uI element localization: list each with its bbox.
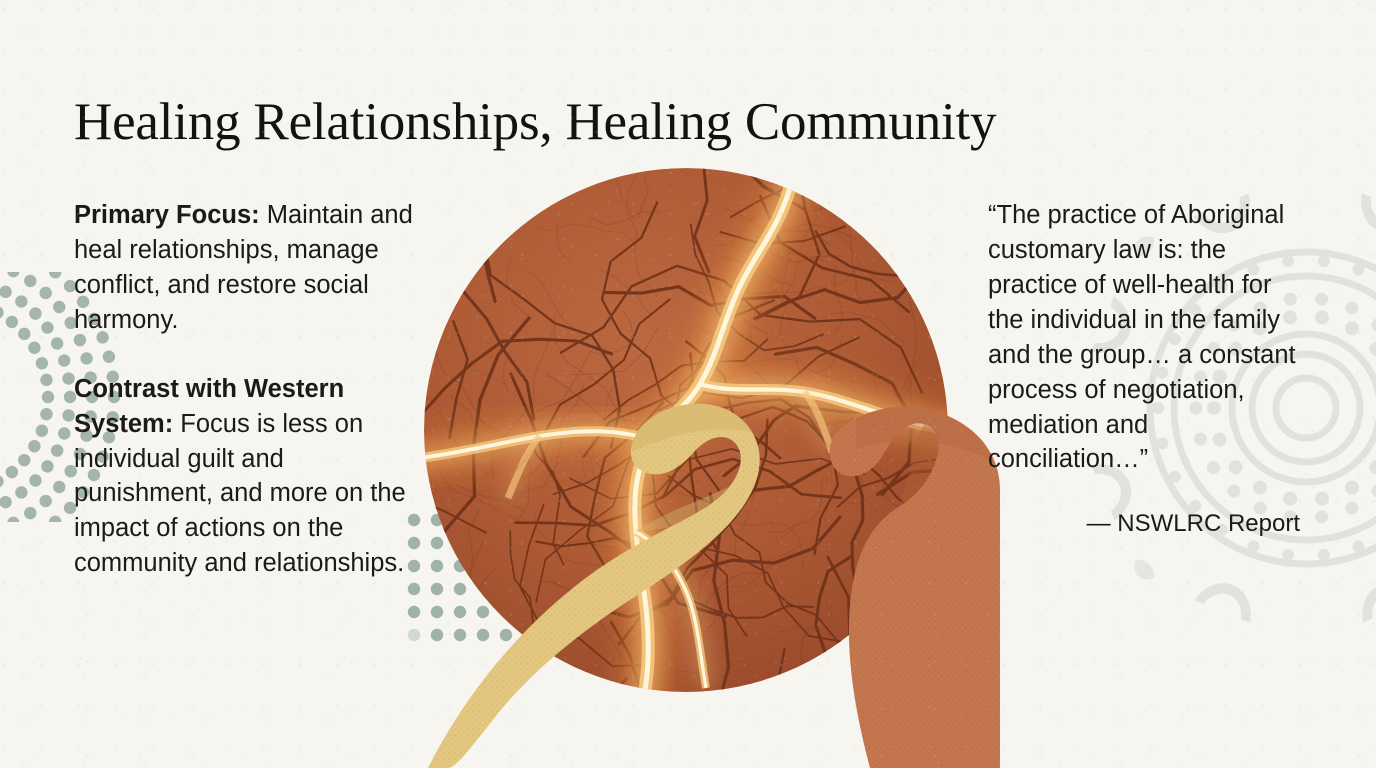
pull-quote: “The practice of Aboriginal customary la…	[988, 198, 1308, 477]
slide-canvas: Healing Relationships, Healing Community…	[0, 0, 1376, 768]
paragraph-primary-focus: Primary Focus: Maintain and heal relatio…	[74, 198, 419, 338]
paragraph-contrast-western-system: Contrast with Western System: Focus is l…	[74, 372, 419, 582]
illustration-cracked-earth-hands	[400, 140, 1000, 768]
paragraph-lead-label: Primary Focus:	[74, 201, 260, 229]
right-quote-column: “The practice of Aboriginal customary la…	[988, 198, 1308, 538]
quote-attribution: — NSWLRC Report	[988, 510, 1308, 538]
right-hand-terracotta	[830, 406, 1000, 768]
left-text-column: Primary Focus: Maintain and heal relatio…	[74, 198, 419, 581]
page-title: Healing Relationships, Healing Community	[74, 94, 1274, 151]
